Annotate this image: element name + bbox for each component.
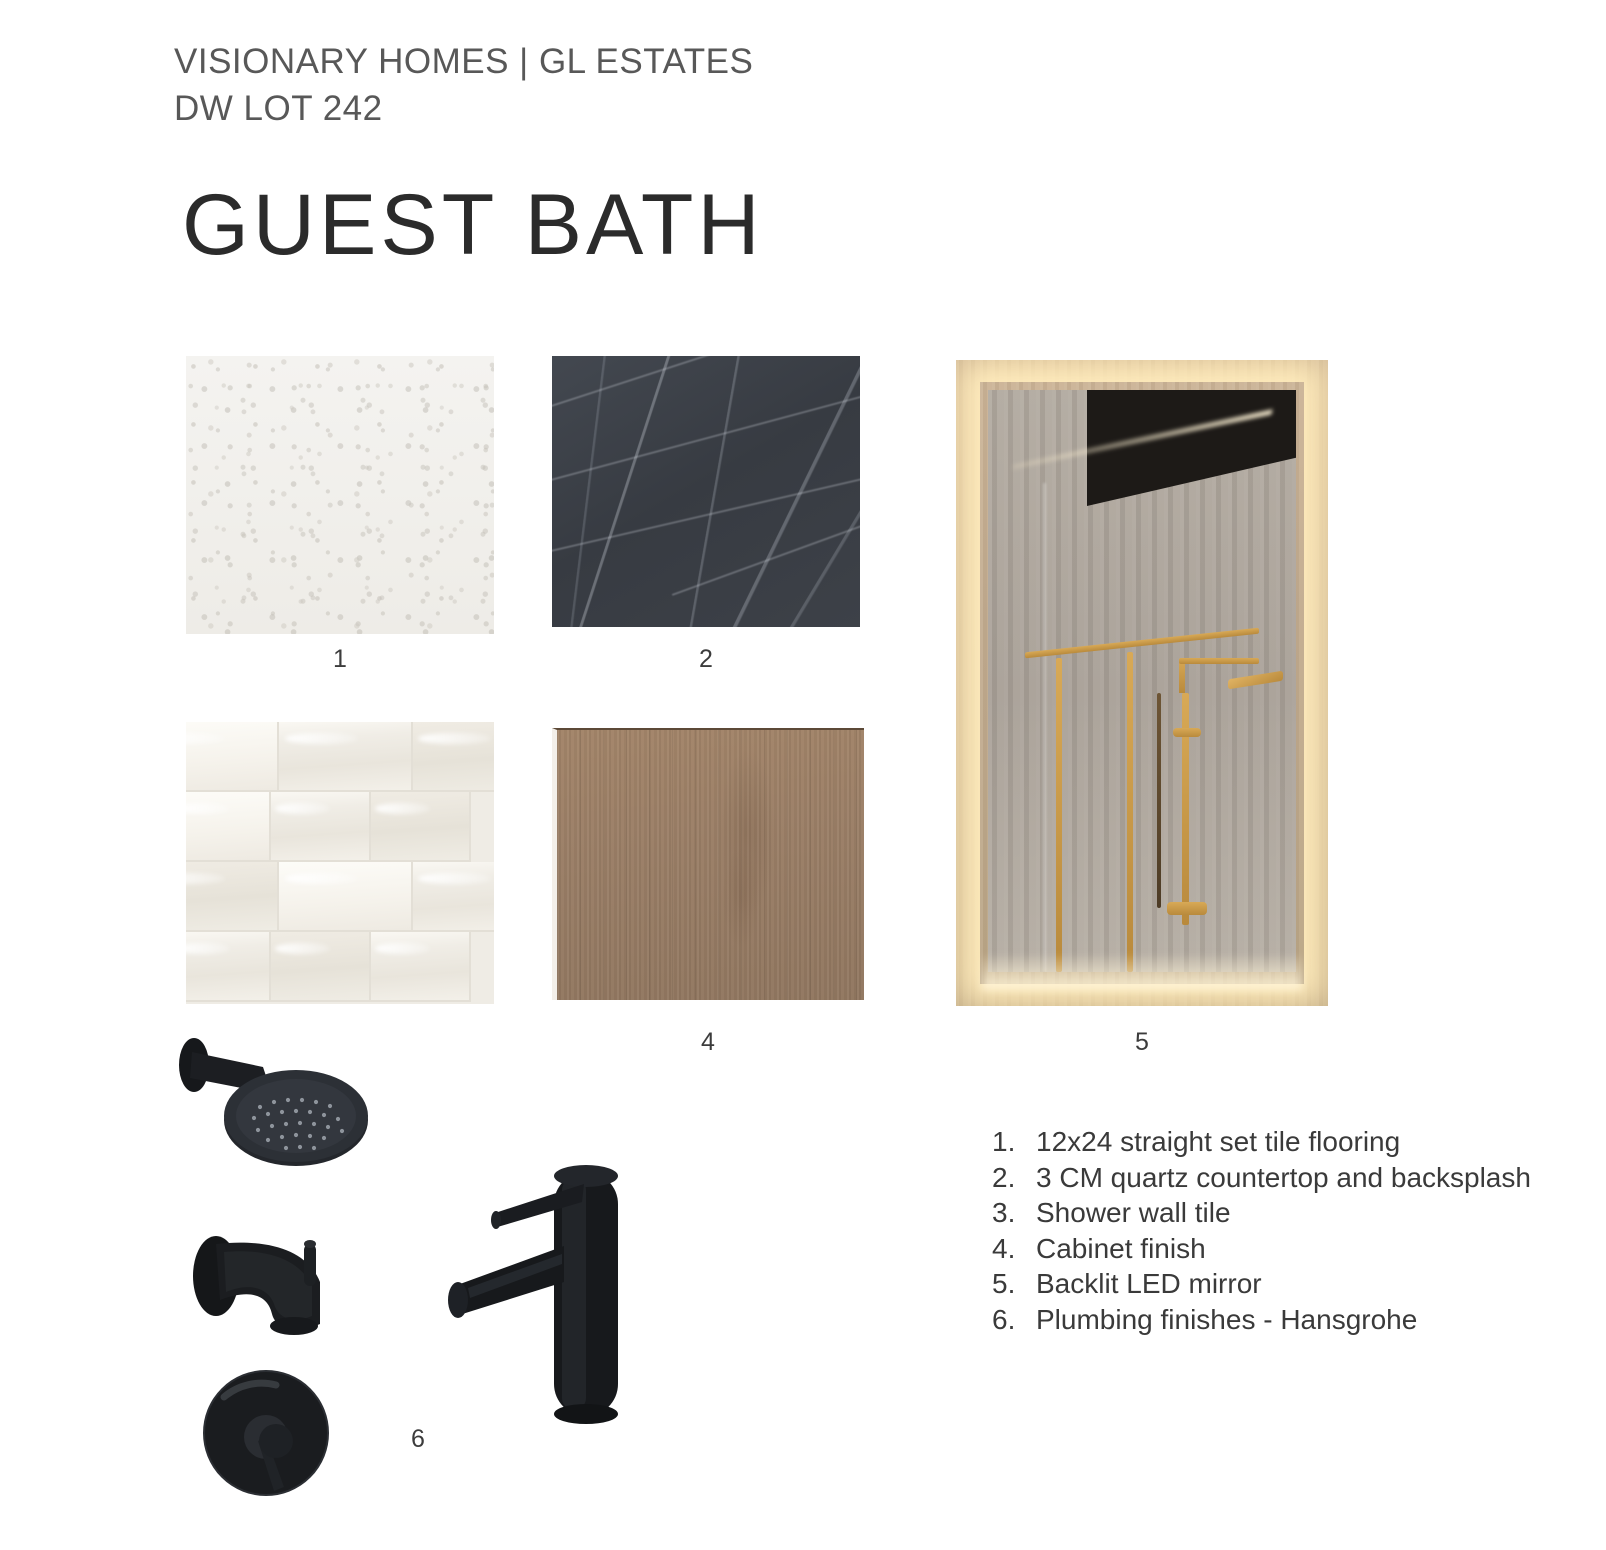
tile-unit [271,932,371,1002]
tile-unit [371,932,471,1002]
shower-hose [1157,693,1161,908]
legend-number: 5. [992,1266,1036,1302]
swatch-backlit-led-mirror[interactable] [956,360,1328,1006]
vessel-sink-faucet-icon[interactable] [432,1136,652,1426]
tile-unit [186,932,271,1002]
legend-item: 2. 3 CM quartz countertop and backsplash [992,1160,1592,1196]
dark-ceiling-plane [1087,390,1296,506]
swatch-label-1: 1 [186,645,494,674]
tile-unit [271,792,371,862]
brass-frame-post-mid [1127,652,1133,972]
swatch-quartz-dark[interactable] [552,356,860,627]
swatch-label-2: 2 [552,645,860,674]
legend-label: Shower wall tile [1036,1195,1231,1231]
swatch-label-6: 6 [368,1425,468,1454]
legend-label: 12x24 straight set tile flooring [1036,1124,1400,1160]
rain-shower-head-icon[interactable] [168,1012,418,1182]
swatch-cabinet-finish[interactable] [552,728,864,1000]
tile-unit [186,722,279,792]
tile-unit [186,862,279,932]
tile-unit [413,722,494,792]
legend-number: 1. [992,1124,1036,1160]
vein-line [672,515,860,596]
legend-item: 5. Backlit LED mirror [992,1266,1592,1302]
brass-shower-head [1228,671,1283,690]
brass-frame-post-left [1056,658,1062,972]
design-board: VISIONARY HOMES | GL ESTATES DW LOT 242 … [0,0,1606,1550]
tile-unit [371,792,471,862]
shower-valve-trim-icon[interactable] [188,1345,388,1535]
mirror-bottom-glow [982,956,1302,990]
legend-item: 1. 12x24 straight set tile flooring [992,1124,1592,1160]
tile-unit [186,792,271,862]
legend-item: 3. Shower wall tile [992,1195,1592,1231]
swatch-quartz-light[interactable] [186,356,494,634]
legend-label: Cabinet finish [1036,1231,1206,1267]
legend-label: Plumbing finishes - Hansgrohe [1036,1302,1417,1338]
project-header: VISIONARY HOMES | GL ESTATES DW LOT 242 [174,38,753,132]
vein-line [552,356,856,410]
vein-line [552,391,860,486]
legend-list: 1. 12x24 straight set tile flooring 2. 3… [992,1124,1592,1337]
page-title: GUEST BATH [182,176,764,274]
legend-number: 4. [992,1231,1036,1267]
brass-shower-arm [1179,658,1259,664]
legend-label: 3 CM quartz countertop and backsplash [1036,1160,1531,1196]
legend-number: 2. [992,1160,1036,1196]
legend-item: 4. Cabinet finish [992,1231,1592,1267]
tile-unit [279,722,412,792]
legend-number: 3. [992,1195,1036,1231]
swatch-shower-wall-tile[interactable] [186,722,494,1004]
legend-label: Backlit LED mirror [1036,1266,1262,1302]
wall-corner-edge [1043,483,1046,972]
swatch-label-5: 5 [956,1028,1328,1057]
tub-spout-diverter-icon[interactable] [180,1196,380,1346]
tile-unit [413,862,494,932]
swatch-label-4: 4 [552,1028,864,1057]
brass-thermostatic-valve [1167,902,1207,915]
legend-number: 6. [992,1302,1036,1338]
brass-hand-shower-bracket [1173,728,1201,737]
legend-item: 6. Plumbing finishes - Hansgrohe [992,1302,1592,1338]
mirror-reflection [988,390,1296,972]
tile-unit [279,862,412,932]
brass-frame-top [1025,628,1259,659]
